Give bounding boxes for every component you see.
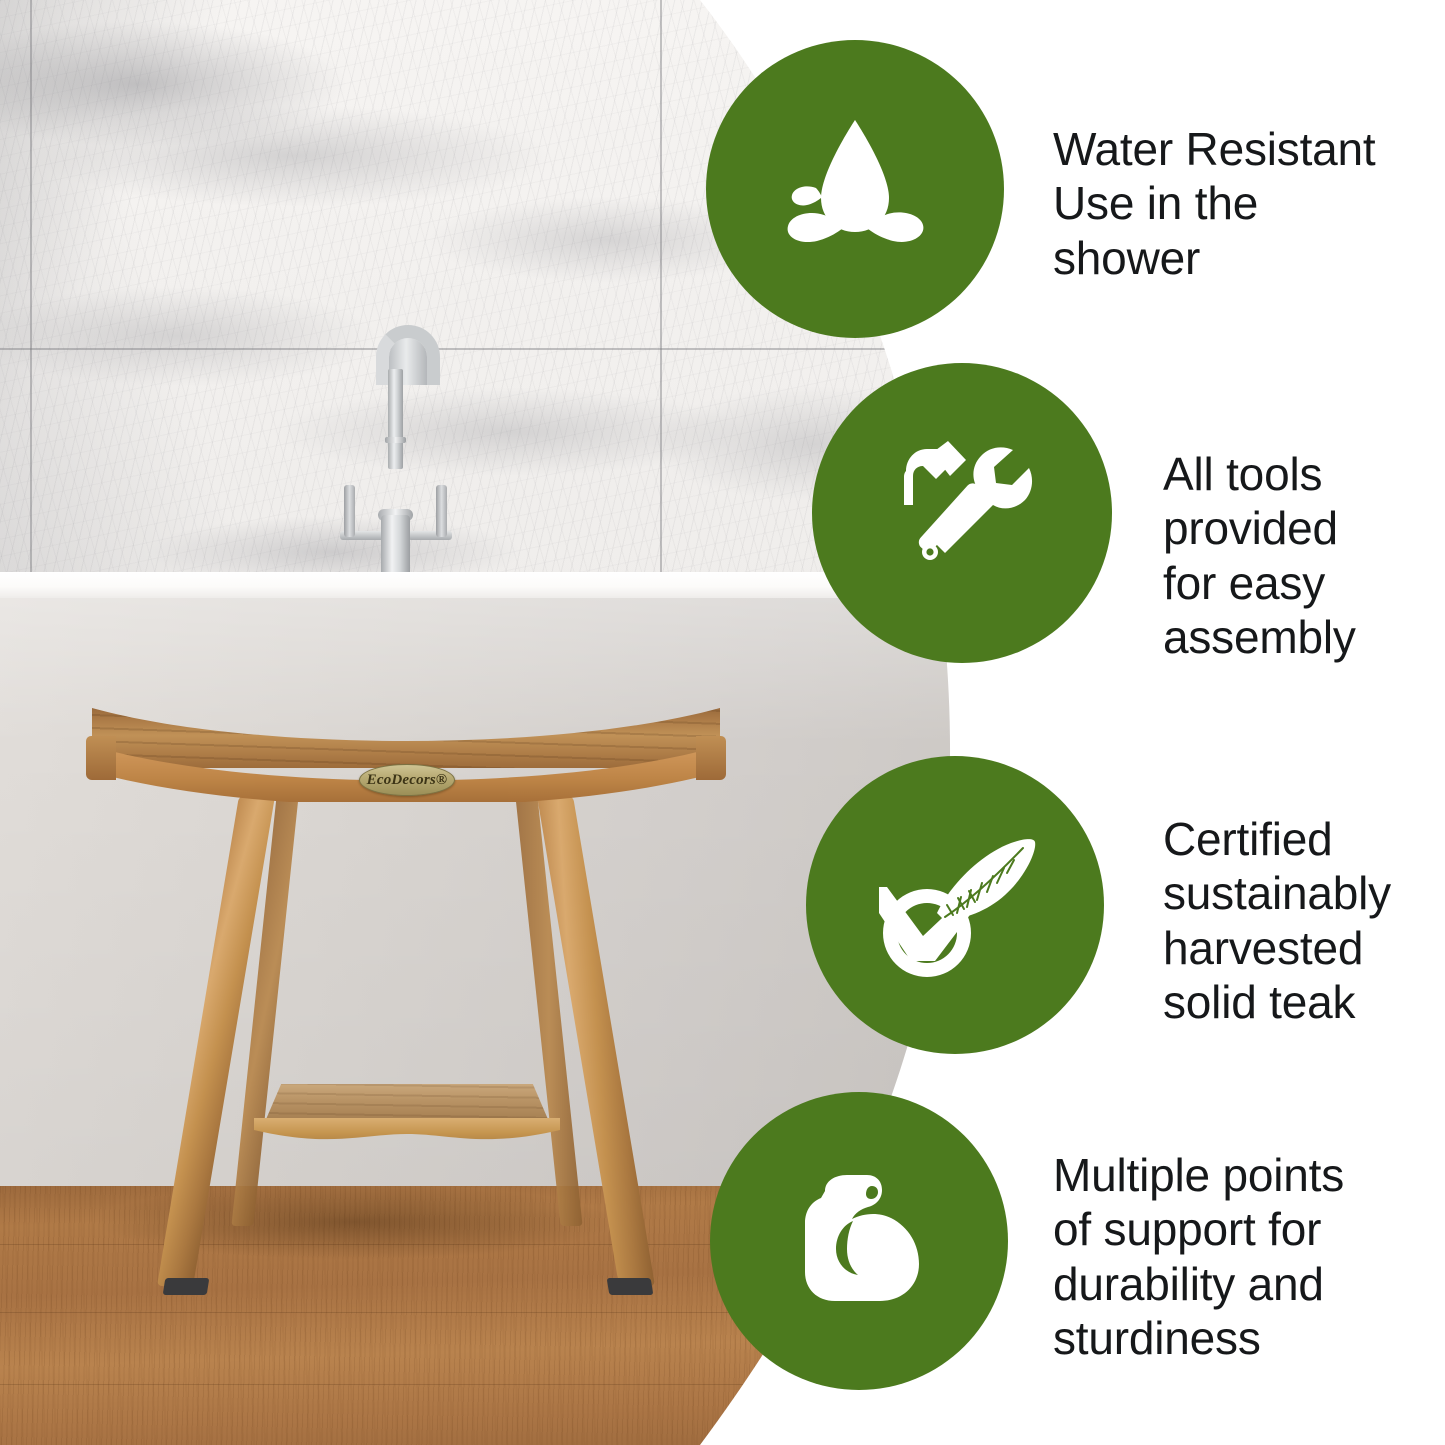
leaf-check-icon	[865, 825, 1045, 985]
feature-text-multiple-support: Multiple points of support for durabilit…	[1053, 1148, 1445, 1365]
feature-icon-circle-tools-provided	[812, 363, 1112, 663]
infographic-canvas: EcoDecors® Water Resistant Use in the sh…	[0, 0, 1445, 1445]
chrome-faucet	[330, 325, 500, 575]
teak-shower-stool: EcoDecors®	[86, 700, 726, 1320]
faucet-handle-left	[344, 485, 355, 537]
water-drop-icon	[770, 114, 940, 264]
stool-foot-left	[163, 1278, 210, 1295]
stool-seat-edge-left	[86, 736, 116, 780]
faucet-spout-arc	[376, 325, 440, 385]
feature-text-water-resistant: Water Resistant Use in the shower	[1053, 122, 1445, 285]
grout-line-vertical	[30, 0, 32, 600]
flexed-bicep-icon	[779, 1161, 939, 1321]
feature-icon-circle-water-resistant	[706, 40, 1004, 338]
hammer-wrench-icon	[882, 433, 1042, 593]
brand-badge-label: EcoDecors®	[367, 772, 448, 789]
faucet-spout-column	[388, 369, 403, 469]
feature-text-tools-provided: All tools provided for easy assembly	[1163, 447, 1445, 664]
stool-seat-edge-right	[696, 736, 726, 780]
ecodecors-brand-badge: EcoDecors®	[359, 764, 455, 796]
stool-foot-right	[607, 1278, 654, 1295]
faucet-handle-right	[436, 485, 447, 537]
stool-seat: EcoDecors®	[86, 700, 726, 810]
faucet-collar	[385, 437, 406, 443]
feature-icon-circle-certified-teak	[806, 756, 1104, 1054]
feature-icon-circle-multiple-support	[710, 1092, 1008, 1390]
feature-text-certified-teak: Certified sustainably harvested solid te…	[1163, 812, 1445, 1029]
faucet-base	[381, 515, 410, 577]
stool-shelf-rail	[254, 1118, 560, 1148]
stool-seat-grain	[92, 700, 720, 768]
grout-line-vertical	[660, 0, 662, 600]
